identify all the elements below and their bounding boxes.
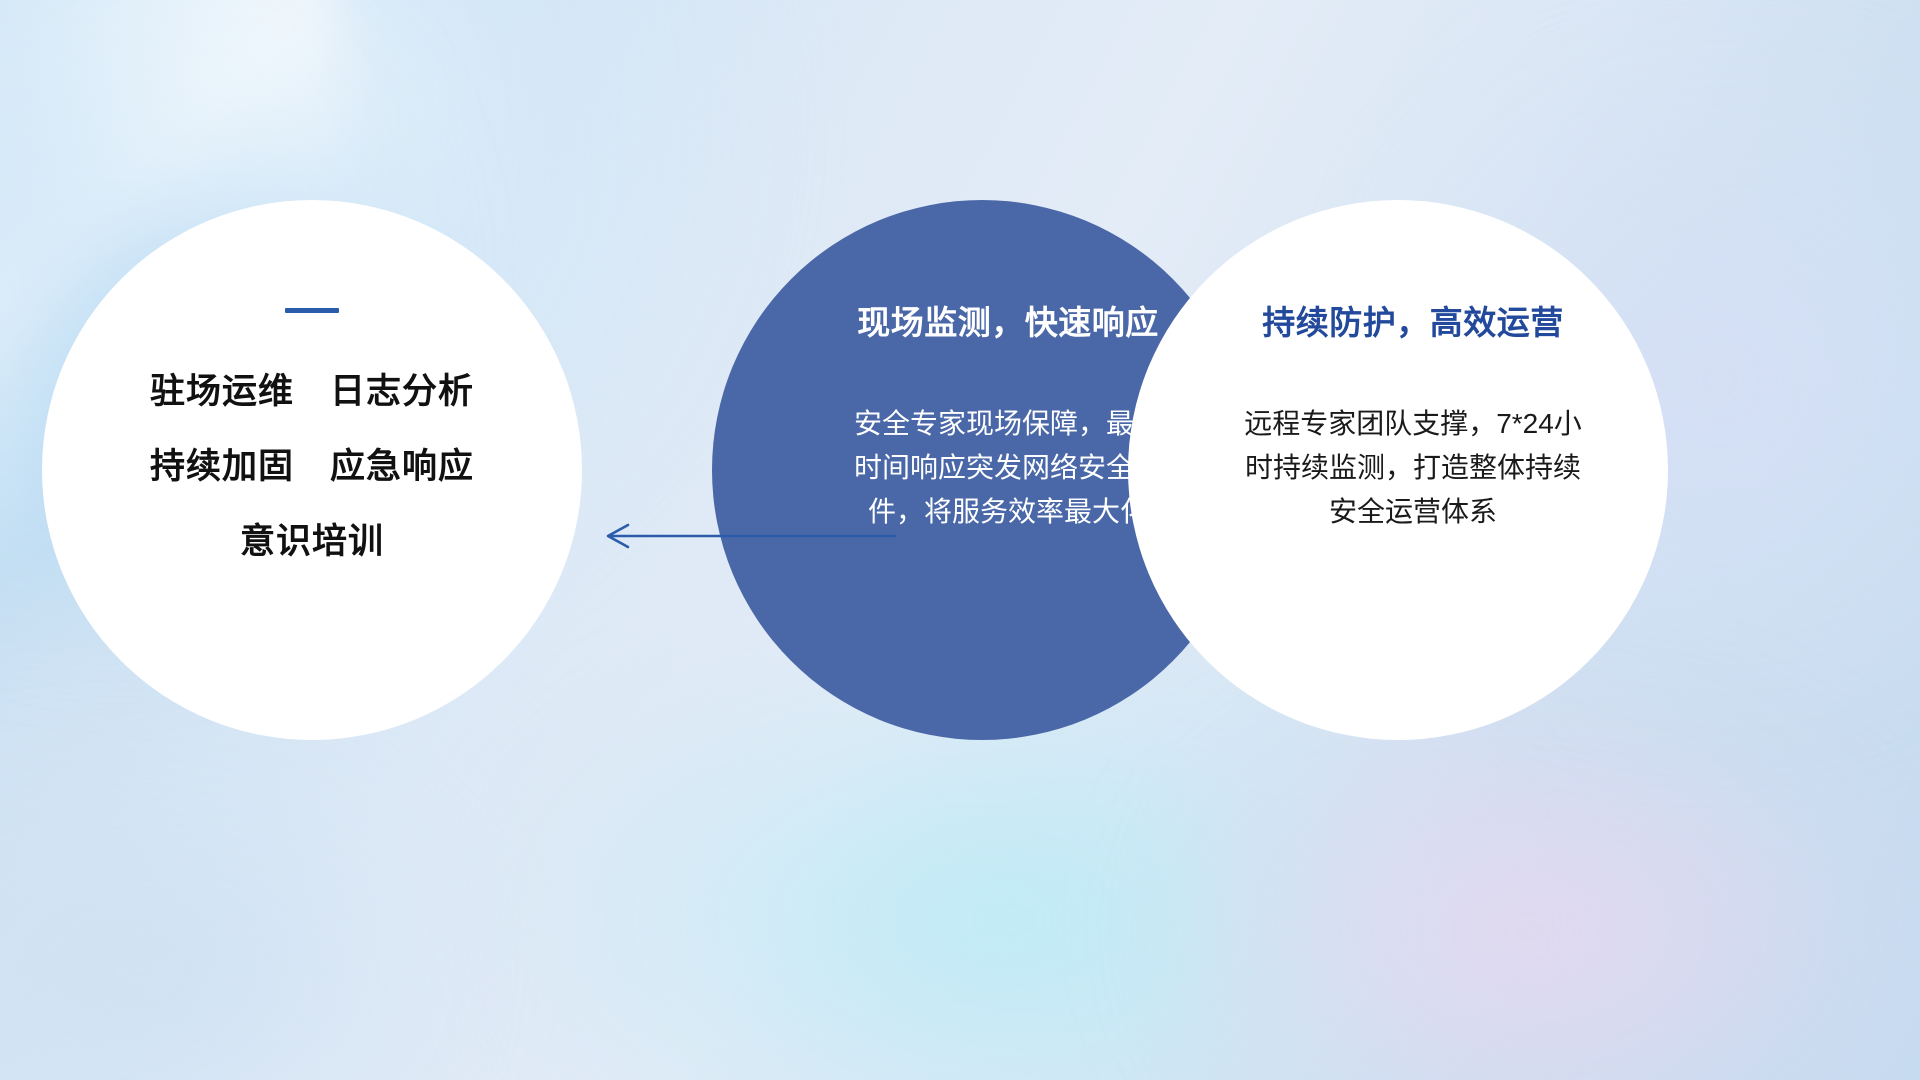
keyword-row: 意识培训: [240, 513, 384, 564]
right-circle-card[interactable]: 持续防护，高效运营 远程专家团队支撑，7*24小时持续监测，打造整体持续安全运营…: [1128, 200, 1668, 740]
keyword-list: 驻场运维 日志分析 持续加固 应急响应 意识培训: [150, 363, 474, 564]
left-arrow-icon: [600, 516, 900, 556]
slide-canvas: 现场监测，快速响应 安全专家现场保障，最短时间响应突发网络安全事件，将服务效率最…: [0, 0, 1920, 1080]
keyword-item: 应急响应: [330, 438, 474, 489]
right-circle-content: 持续防护，高效运营 远程专家团队支撑，7*24小时持续监测，打造整体持续安全运营…: [1113, 200, 1683, 535]
background-glow-bottom-left: [0, 760, 460, 1080]
keyword-item: 日志分析: [330, 363, 474, 414]
keyword-item: 持续加固: [150, 438, 294, 489]
background-glow-pink: [1180, 720, 1880, 1080]
keyword-row: 持续加固 应急响应: [150, 438, 474, 489]
left-circle-content: 驻场运维 日志分析 持续加固 应急响应 意识培训: [42, 200, 582, 564]
keyword-item: 驻场运维: [150, 363, 294, 414]
keyword-row: 驻场运维 日志分析: [150, 363, 474, 414]
keyword-item: 意识培训: [240, 513, 384, 564]
right-circle-title: 持续防护，高效运营: [1262, 296, 1564, 344]
right-circle-body: 远程专家团队支撑，7*24小时持续监测，打造整体持续安全运营体系: [1233, 402, 1593, 535]
left-circle-card[interactable]: 驻场运维 日志分析 持续加固 应急响应 意识培训: [42, 200, 582, 740]
accent-dash-icon: [285, 308, 339, 313]
